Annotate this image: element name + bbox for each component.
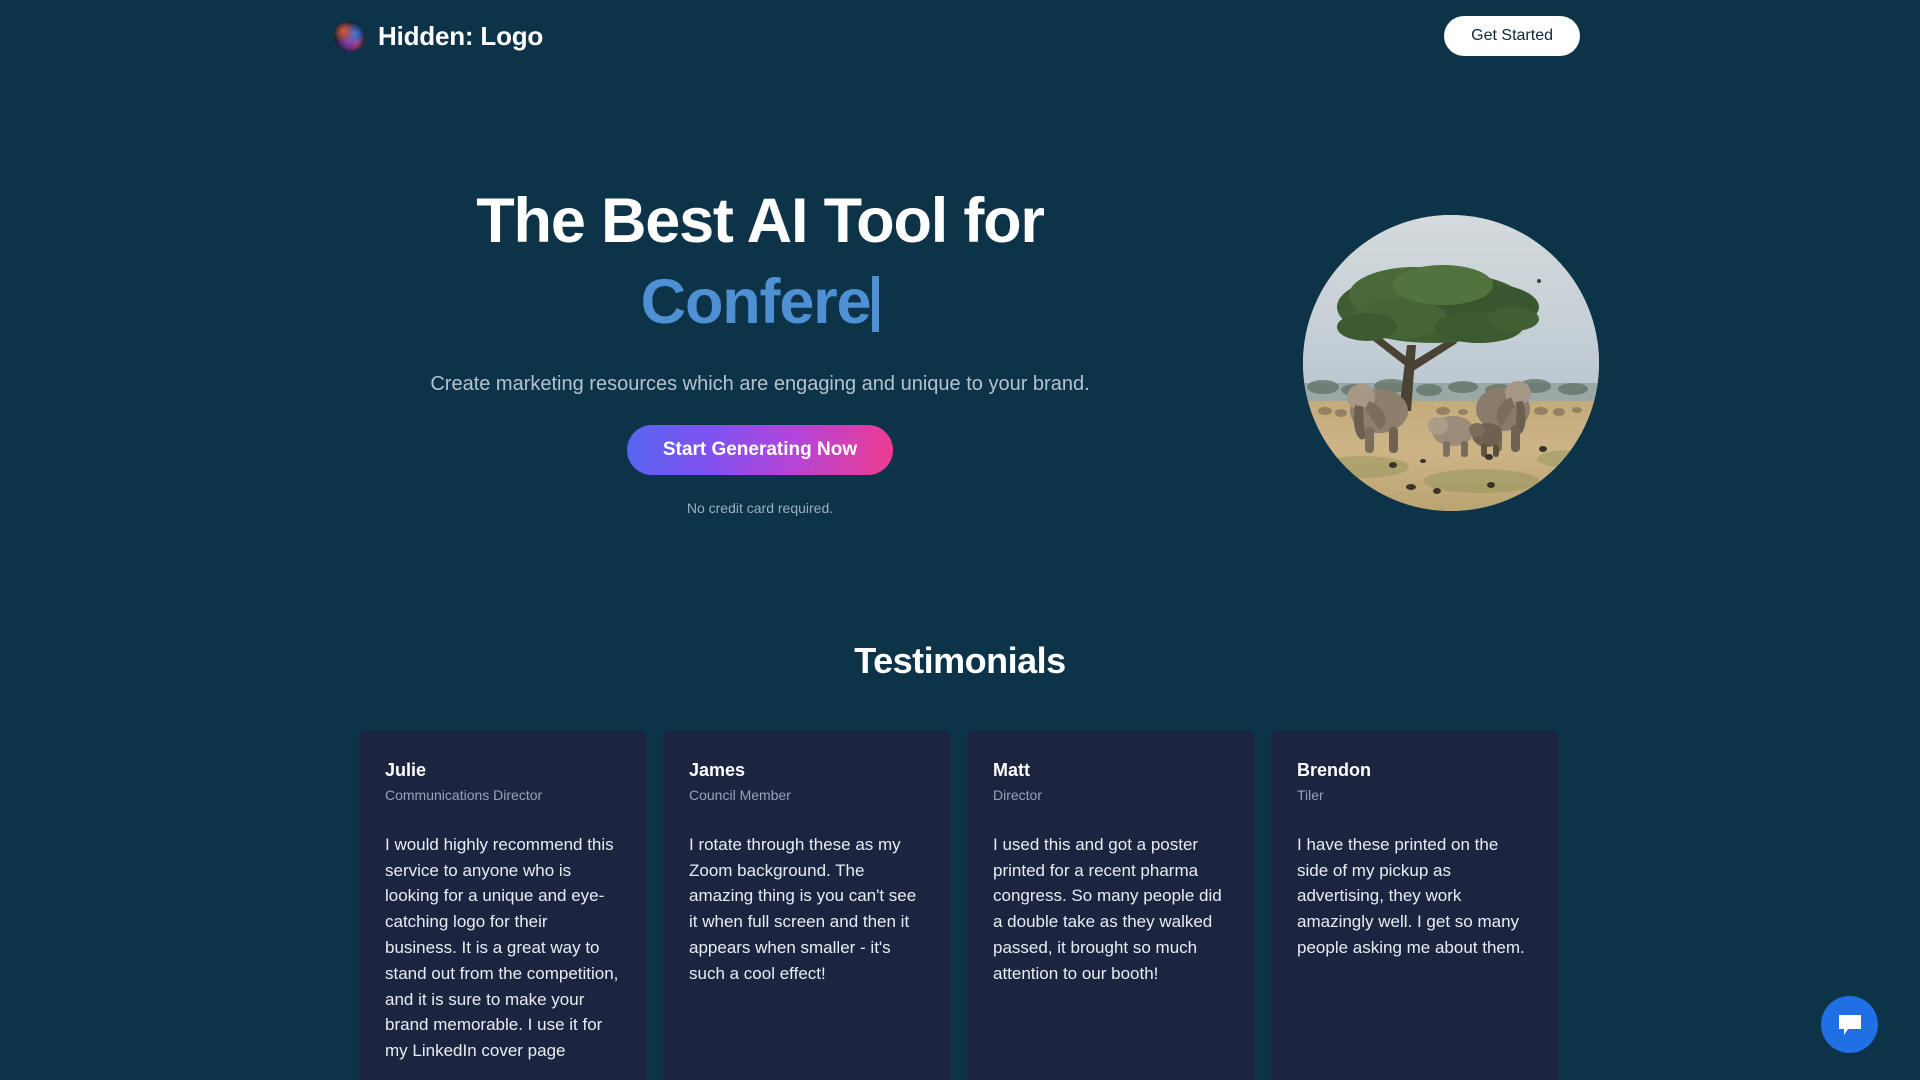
hero-subtitle: Create marketing resources which are eng… <box>190 370 1330 398</box>
hero-title-line-1: The Best AI Tool for <box>476 186 1044 256</box>
testimonial-name: Brendon <box>1297 759 1532 782</box>
testimonial-role: Director <box>993 786 1228 804</box>
testimonial-name: Matt <box>993 759 1228 782</box>
hero-copy: The Best AI Tool for Confere Create mark… <box>190 190 1330 516</box>
navbar: Hidden: Logo Get Started <box>0 0 1920 72</box>
testimonial-quote: I rotate through these as my Zoom backgr… <box>689 832 924 987</box>
testimonials-section: Testimonials Julie Communications Direct… <box>0 640 1920 1080</box>
testimonial-name: Julie <box>385 759 620 782</box>
testimonial-card: James Council Member I rotate through th… <box>663 731 950 1080</box>
page-title: The Best AI Tool for Confere <box>190 190 1330 334</box>
get-started-button[interactable]: Get Started <box>1444 16 1580 56</box>
testimonial-card: Matt Director I used this and got a post… <box>967 731 1254 1080</box>
chat-bubble-icon <box>1837 1013 1863 1037</box>
testimonial-name: James <box>689 759 924 782</box>
hero-title-line-2: Confere <box>190 271 1330 334</box>
cta-note: No credit card required. <box>190 500 1330 516</box>
start-generating-button[interactable]: Start Generating Now <box>627 425 893 475</box>
brand[interactable]: Hidden: Logo <box>334 21 543 52</box>
chat-widget-button[interactable] <box>1821 996 1878 1053</box>
testimonial-card: Julie Communications Director I would hi… <box>359 731 646 1080</box>
typing-caret-icon <box>872 276 879 332</box>
hero-typed-word: Confere <box>641 267 871 337</box>
brand-name: Hidden: Logo <box>378 21 543 52</box>
testimonial-quote: I used this and got a poster printed for… <box>993 832 1228 987</box>
testimonial-quote: I have these printed on the side of my p… <box>1297 832 1532 961</box>
testimonial-card-list: Julie Communications Director I would hi… <box>0 731 1920 1080</box>
testimonial-card: Brendon Tiler I have these printed on th… <box>1271 731 1558 1080</box>
testimonial-quote: I would highly recommend this service to… <box>385 832 620 1064</box>
testimonial-role: Council Member <box>689 786 924 804</box>
testimonials-heading: Testimonials <box>0 640 1920 682</box>
hero-section: The Best AI Tool for Confere Create mark… <box>0 190 1920 550</box>
testimonial-role: Communications Director <box>385 786 620 804</box>
hero-image <box>1303 215 1599 511</box>
brand-logo-icon <box>334 21 365 52</box>
testimonial-role: Tiler <box>1297 786 1532 804</box>
